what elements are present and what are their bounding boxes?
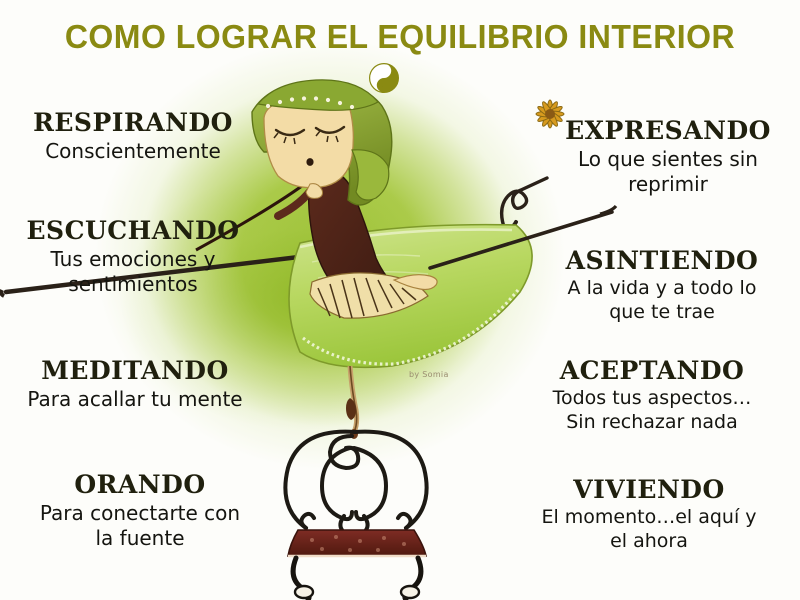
subtext-meditando: Para acallar tu mente [4,387,266,412]
heading-escuchando: ESCUCHANDO [8,218,258,244]
skirt-frill-shape [310,273,428,318]
subtext-line: Lo que sientes sin [540,147,796,172]
bodice-shape [309,168,394,296]
chair-legs-shape [293,558,421,600]
hand-shape [394,275,437,290]
chair-seat-shape [288,530,426,556]
chair-back-shape [285,432,426,530]
subtext-asintiendo: A la vida y a todo lo que te trae [528,277,796,325]
subtext-line: Todos tus aspectos… [506,387,798,411]
principle-orando: ORANDO Para conectarte con la fuente [6,472,274,551]
principle-escuchando: ESCUCHANDO Tus emociones y sentimientos [8,218,258,297]
skirt-shape [289,225,532,368]
leg-shape [346,366,358,439]
subtext-line: la fuente [6,526,274,551]
subtext-line: que te trae [528,301,796,325]
subtext-line: Sin rechazar nada [506,411,798,435]
subtext-line: A la vida y a todo lo [528,277,796,301]
principle-viviendo: VIVIENDO El momento…el aquí y el ahora [500,477,798,554]
heading-expresando: EXPRESANDO [540,118,796,144]
heading-respirando: RESPIRANDO [8,110,258,136]
heading-asintiendo: ASINTIENDO [528,248,796,274]
subtext-aceptando: Todos tus aspectos… Sin rechazar nada [506,387,798,435]
subtext-viviendo: El momento…el aquí y el ahora [500,506,798,554]
poster-canvas: COMO LOGRAR EL EQUILIBRIO INTERIOR [0,0,800,600]
principle-meditando: MEDITANDO Para acallar tu mente [4,358,266,412]
heading-orando: ORANDO [6,472,274,498]
heading-aceptando: ACEPTANDO [506,358,798,384]
principle-aceptando: ACEPTANDO Todos tus aspectos… Sin rechaz… [506,358,798,435]
subtext-line: reprimir [540,172,796,197]
heading-viviendo: VIVIENDO [500,477,798,503]
principle-respirando: RESPIRANDO Conscientemente [8,110,258,164]
chair-feet-shape [295,586,419,598]
subtext-respirando: Conscientemente [8,139,258,164]
principle-asintiendo: ASINTIENDO A la vida y a todo lo que te … [528,248,796,325]
subtext-line: el ahora [500,530,798,554]
subtext-line: Tus emociones y [8,247,258,272]
subtext-line: Conscientemente [8,139,258,164]
subtext-line: sentimientos [8,272,258,297]
principle-expresando: EXPRESANDO Lo que sientes sin reprimir [540,118,796,197]
subtext-orando: Para conectarte con la fuente [6,501,274,551]
yin-yang-icon [369,63,399,93]
subtext-expresando: Lo que sientes sin reprimir [540,147,796,197]
heading-meditando: MEDITANDO [4,358,266,384]
subtext-line: Para conectarte con [6,501,274,526]
artist-signature: by Somia [409,370,449,379]
subtext-line: Para acallar tu mente [4,387,266,412]
subtext-line: El momento…el aquí y [500,506,798,530]
page-title: COMO LOGRAR EL EQUILIBRIO INTERIOR [12,18,788,56]
subtext-escuchando: Tus emociones y sentimientos [8,247,258,297]
head-shape [252,80,392,205]
